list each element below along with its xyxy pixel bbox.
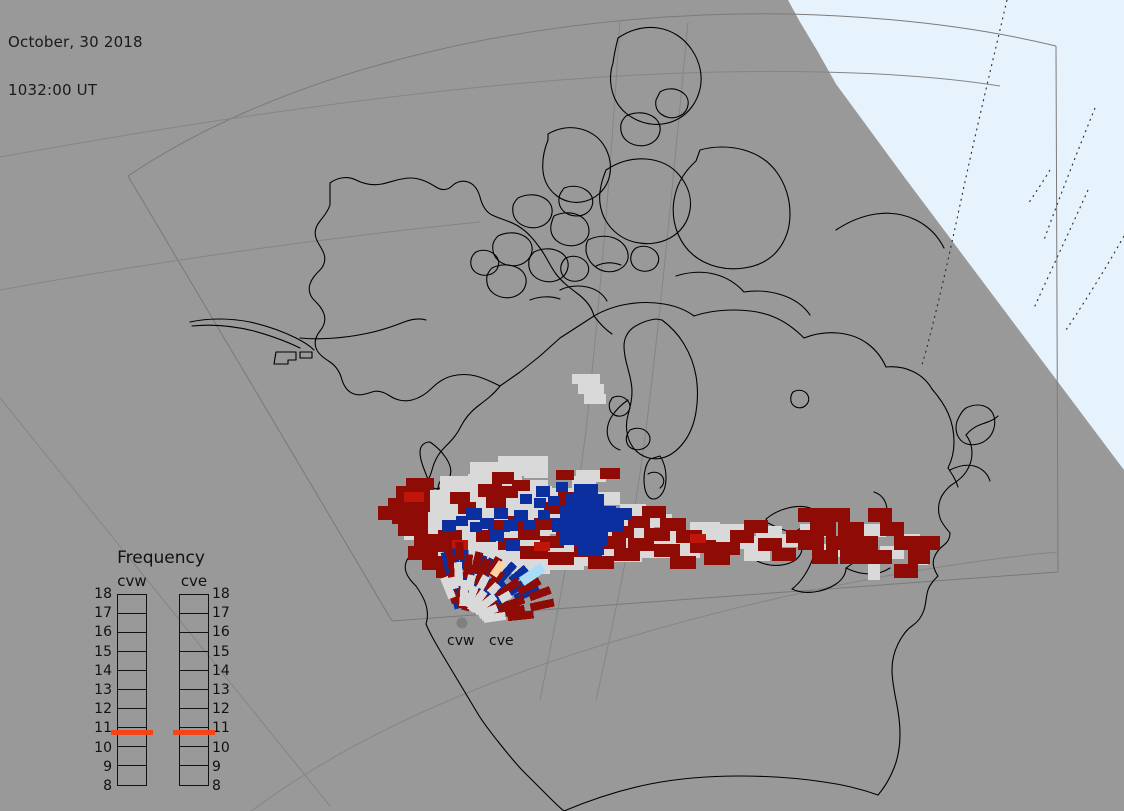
frequency-legend-title: Frequency [88,548,234,568]
frequency-segment-cvw-5 [118,690,146,709]
frequency-tick-right-15: 15 [212,646,230,658]
frequency-tick-left-16: 16 [94,626,112,638]
frequency-tick-right-14: 14 [212,665,230,677]
timestamp-date: October, 30 2018 [8,34,143,50]
frequency-tick-left-8: 8 [103,780,112,792]
frequency-tick-right-17: 17 [212,607,230,619]
frequency-segment-cve-0 [180,595,208,614]
frequency-segment-cve-2 [180,633,208,652]
station-label-cvw: cvw [447,633,474,649]
frequency-tick-left-10: 10 [94,742,112,754]
velocity-legend: Velocity (m/s) 5004003002001000-100-200-… [964,0,1124,340]
frequency-segment-cvw-6 [118,709,146,728]
frequency-segment-cve-4 [180,671,208,690]
frequency-segment-cvw-8 [118,747,146,766]
frequency-scale-cve [179,594,209,786]
station-label-cve: cve [489,633,514,649]
frequency-segment-cvw-1 [118,614,146,633]
frequency-segment-cvw-3 [118,652,146,671]
frequency-tick-left-18: 18 [94,588,112,600]
frequency-tick-left-15: 15 [94,646,112,658]
frequency-segment-cvw-2 [118,633,146,652]
frequency-tick-right-16: 16 [212,626,230,638]
frequency-segment-cvw-4 [118,671,146,690]
frequency-segment-cve-9 [180,766,208,785]
timestamp: October, 30 2018 1032:00 UT [8,2,143,130]
frequency-tick-left-13: 13 [94,684,112,696]
frequency-segment-cve-6 [180,709,208,728]
frequency-tick-left-17: 17 [94,607,112,619]
timestamp-time: 1032:00 UT [8,82,143,98]
radar-site-marker [457,618,468,629]
frequency-marker-cvw [111,730,153,735]
frequency-tick-left-9: 9 [103,761,112,773]
frequency-tick-left-12: 12 [94,703,112,715]
frequency-scale-cvw [117,594,147,786]
frequency-legend: Frequency cvw cve 18171615141312111098 1… [88,548,234,784]
frequency-marker-cve [173,730,215,735]
frequency-segment-cve-3 [180,652,208,671]
frequency-column-title-cvw: cvw [110,572,154,590]
frequency-column-title-cve: cve [172,572,216,590]
radar-map-page: October, 30 2018 1032:00 UT cvw cve Velo… [0,0,1124,811]
frequency-segment-cve-5 [180,690,208,709]
frequency-segment-cvw-9 [118,766,146,785]
frequency-segment-cve-1 [180,614,208,633]
frequency-tick-right-12: 12 [212,703,230,715]
frequency-tick-right-8: 8 [212,780,221,792]
frequency-tick-left-14: 14 [94,665,112,677]
frequency-tick-left-11: 11 [94,722,112,734]
frequency-tick-right-18: 18 [212,588,230,600]
frequency-tick-right-10: 10 [212,742,230,754]
frequency-segment-cvw-0 [118,595,146,614]
frequency-tick-right-13: 13 [212,684,230,696]
frequency-tick-right-9: 9 [212,761,221,773]
frequency-segment-cve-8 [180,747,208,766]
